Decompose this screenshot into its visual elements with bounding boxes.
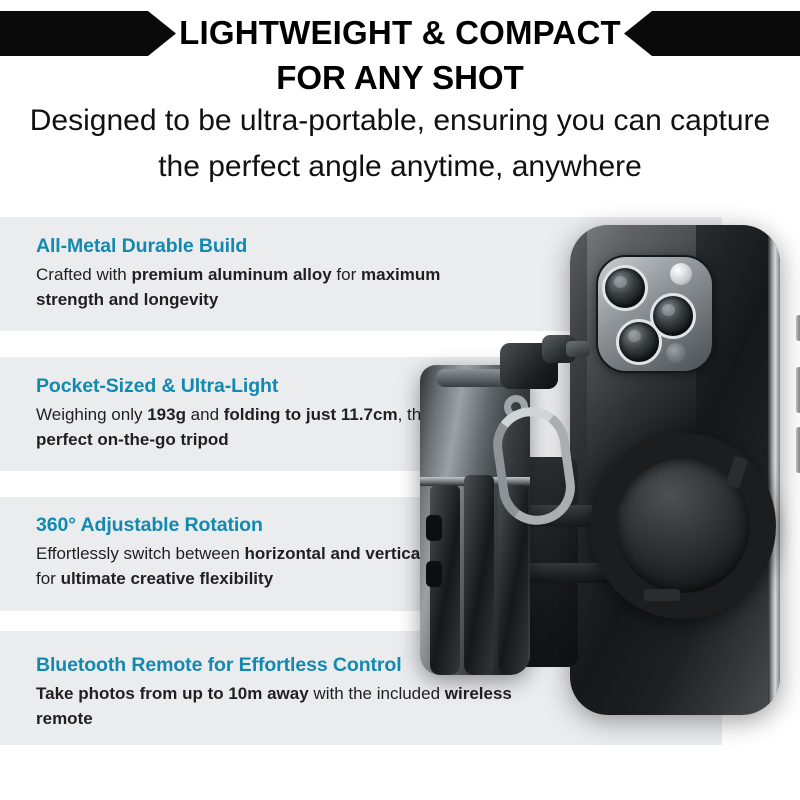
phone-camera-module [596,255,714,373]
infographic-page: LIGHTWEIGHT & COMPACT FOR ANY SHOT Desig… [0,0,800,800]
product-image [400,195,800,765]
phone-volume-up-icon [796,367,800,413]
phone-side-rail [768,225,780,715]
phone-mute-switch-icon [796,315,800,341]
tripod-vent-slot-1 [426,515,442,541]
magsafe-ring-mount [590,433,776,619]
camera-lens-ultrawide-icon [616,319,662,365]
phone-volume-down-icon [796,427,800,473]
camera-flash-icon [670,263,692,285]
tripod-pivot-tip [566,341,590,357]
tripod-vent-slot-2 [426,561,442,587]
magsafe-ring-tab-bottom [644,589,680,601]
tripod-leg-2 [464,475,494,675]
camera-lidar-icon [666,343,686,363]
camera-lens-wide-icon [602,265,648,311]
